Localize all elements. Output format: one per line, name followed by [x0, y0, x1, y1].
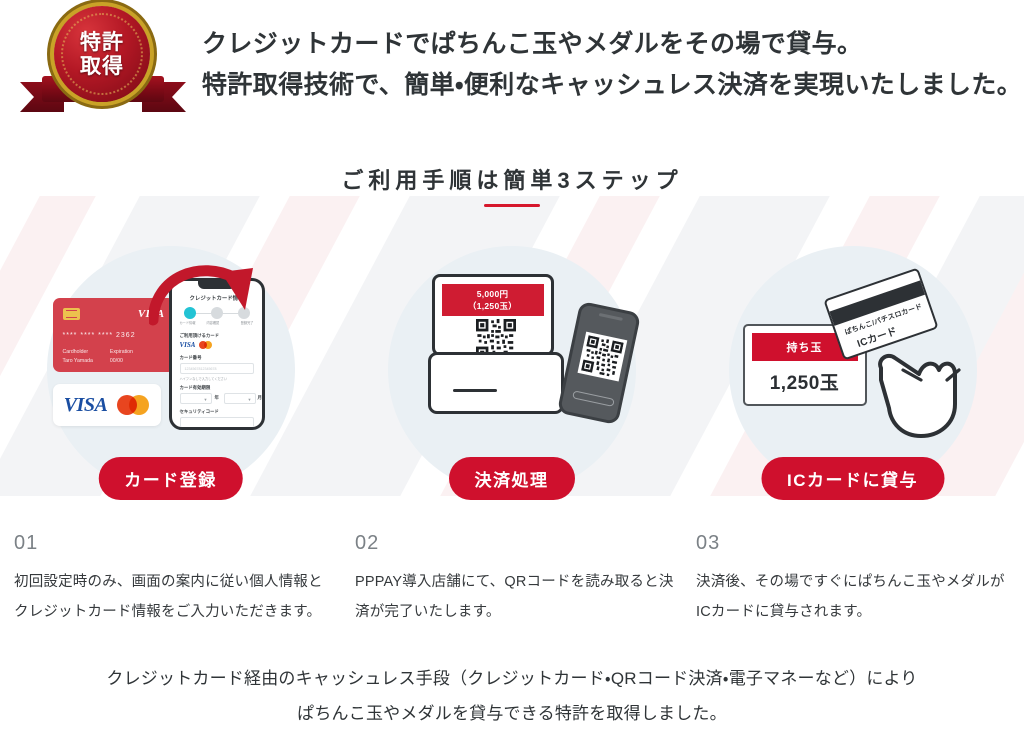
- step-card-1: VISA **** **** **** 2362 Cardholder Taro…: [0, 236, 341, 656]
- step-1-body: 01 初回設定時のみ、画面の案内に従い個人情報とクレジットカード情報をご入力いた…: [14, 532, 334, 627]
- payment-terminal-graphic: 5,000円 （1,250玉）: [428, 274, 564, 414]
- section-title: ご利用手順は簡単3ステップ: [341, 163, 682, 195]
- phone-security-label: セキュリティコード: [180, 409, 219, 415]
- step-1-pill-label: カード登録: [98, 457, 243, 500]
- page-headline: クレジットカードでぱちんこ玉やメダルをその場で貸与。 特許取得技術で、簡単・便利…: [202, 24, 1022, 105]
- phone-number-hint: ハイフンなしで入力してください: [180, 376, 228, 381]
- smartphone-qr-scanner: [556, 301, 640, 425]
- step-3-illustration: 持ち玉 1,250玉 ぱちんこ/パチスロカード ICカード ICカードに貸: [713, 236, 993, 486]
- step-card-3: 持ち玉 1,250玉 ぱちんこ/パチスロカード ICカード ICカードに貸: [682, 236, 1023, 656]
- page-header: 特許 取得 クレジットカードでぱちんこ玉やメダルをその場で貸与。 特許取得技術で…: [0, 0, 1024, 130]
- step-2-number: 02: [355, 532, 675, 555]
- step-2-illustration: 5,000円 （1,250玉）: [372, 236, 652, 486]
- phone-expiry-month-select[interactable]: ▼: [180, 393, 212, 404]
- medal-icon: 特許 取得: [54, 6, 150, 102]
- footer-line-1: クレジットカード経由のキャッシュレス手段（クレジットカード・QRコード決済・電子…: [0, 662, 1024, 697]
- card-meta: Cardholder Taro Yamada Expiration 00/00: [63, 348, 133, 365]
- step-1-description: 初回設定時のみ、画面の案内に従い個人情報とクレジットカード情報をご入力いただきま…: [14, 568, 334, 627]
- headline-line-1: クレジットカードでぱちんこ玉やメダルをその場で貸与。: [202, 24, 1022, 65]
- terminal-amount: 5,000円: [442, 288, 544, 300]
- visa-logo-icon: VISA: [64, 394, 108, 417]
- footer-line-2: ぱちんこ玉やメダルを貸与できる特許を取得しました。: [0, 697, 1024, 732]
- phone-expiry-year-select[interactable]: ▼: [224, 393, 256, 404]
- footer-note: クレジットカード経由のキャッシュレス手段（クレジットカード・QRコード決済・電子…: [0, 662, 1024, 732]
- step-3-body: 03 決済後、その場ですぐにぱちんこ玉やメダルがICカードに貸与されます。: [696, 532, 1016, 627]
- terminal-card-slot-icon: [453, 389, 497, 392]
- phone-qr-code-icon: [581, 335, 624, 378]
- accepted-brands-box: VISA: [53, 384, 161, 426]
- card-number: **** **** **** 2362: [63, 332, 136, 339]
- terminal-amount-banner: 5,000円 （1,250玉）: [442, 284, 544, 316]
- step-1-illustration: VISA **** **** **** 2362 Cardholder Taro…: [31, 236, 311, 486]
- phone-expiry-label: カード有効期限: [180, 385, 211, 391]
- phone-action-button[interactable]: [572, 390, 615, 407]
- terminal-base: [428, 352, 564, 414]
- phone-qr-panel: [577, 332, 627, 382]
- mastercard-logo-icon: [117, 395, 149, 415]
- card-expiration-label: Expiration: [110, 348, 133, 357]
- step-2-description: PPPAY導入店舗にて、QRコードを読み取ると決済が完了いたします。: [355, 568, 675, 627]
- step-3-number: 03: [696, 532, 1016, 555]
- phone-card-number-input[interactable]: 1234567812345678: [180, 363, 254, 374]
- phone-card-number-placeholder: 1234567812345678: [185, 367, 217, 371]
- card-cardholder-label: Cardholder: [63, 348, 93, 357]
- balance-value: 1,250玉: [745, 368, 865, 395]
- card-chip-icon: [63, 308, 80, 320]
- step-2-body: 02 PPPAY導入店舗にて、QRコードを読み取ると決済が完了いたします。: [355, 532, 675, 627]
- headline-line-2: 特許取得技術で、簡単・便利なキャッシュレス決済を実現いたしました。: [202, 65, 1022, 106]
- patent-badge: 特許 取得: [18, 2, 188, 122]
- phone-brand-logos: VISA: [180, 341, 213, 349]
- step-card-2: 5,000円 （1,250玉）: [341, 236, 682, 656]
- steps-row: VISA **** **** **** 2362 Cardholder Taro…: [0, 236, 1024, 656]
- card-cardholder-name: Taro Yamada: [63, 357, 93, 366]
- card-expiration-value: 00/00: [110, 357, 133, 366]
- phone-security-input[interactable]: [180, 417, 254, 428]
- title-underline-accent: [484, 204, 540, 207]
- terminal-qr-code-icon: [476, 319, 516, 356]
- curved-arrow-icon: [149, 258, 259, 336]
- step-2-pill-label: 決済処理: [449, 457, 575, 500]
- phone-speaker-icon: [598, 313, 622, 321]
- page-root: 特許 取得 クレジットカードでぱちんこ玉やメダルをその場で貸与。 特許取得技術で…: [0, 0, 1024, 732]
- step-3-description: 決済後、その場ですぐにぱちんこ玉やメダルがICカードに貸与されます。: [696, 568, 1016, 627]
- phone-expiry-month-unit: 年: [215, 395, 219, 401]
- phone-number-label: カード番号: [180, 355, 202, 361]
- terminal-balls: （1,250玉）: [442, 300, 544, 312]
- step-1-number: 01: [14, 532, 334, 555]
- step-3-pill-label: ICカードに貸与: [761, 457, 944, 500]
- terminal-screen: 5,000円 （1,250玉）: [432, 274, 554, 356]
- badge-line-1: 特許: [80, 30, 124, 54]
- badge-line-2: 取得: [80, 54, 124, 78]
- section-title-block: ご利用手順は簡単3ステップ: [0, 163, 1024, 207]
- phone-expiry-year-unit: 月: [258, 395, 262, 401]
